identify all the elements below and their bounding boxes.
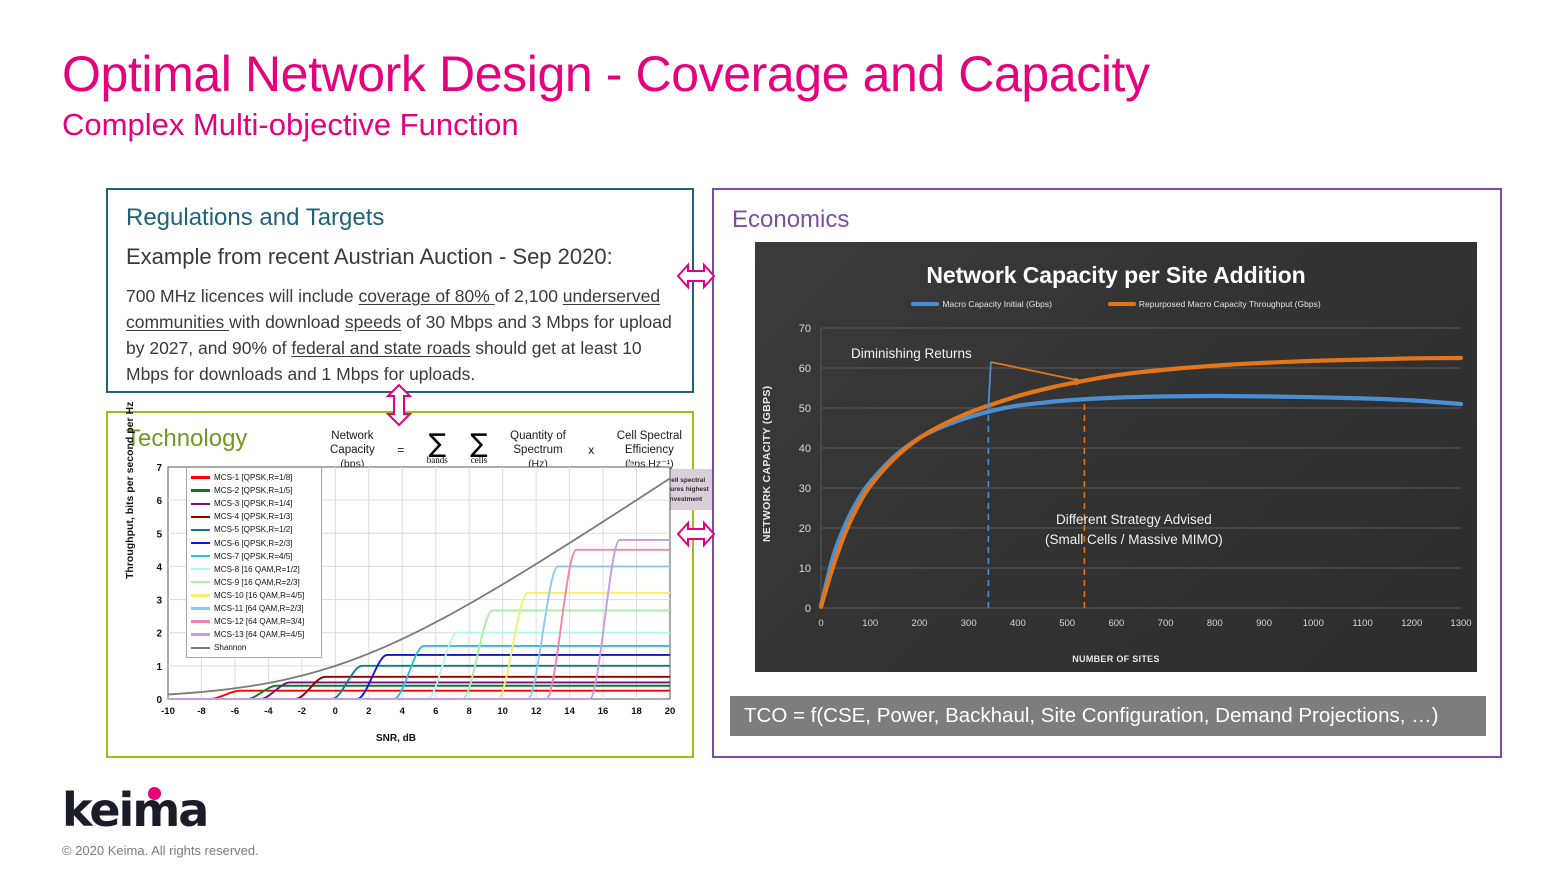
panel-technology: Technology Network Capacity (bps) = ∑ ba… — [106, 411, 694, 758]
svg-text:20: 20 — [799, 523, 811, 535]
svg-text:6: 6 — [156, 496, 162, 507]
svg-text:30: 30 — [799, 483, 811, 495]
panel-regulations-and-targets: Regulations and Targets Example from rec… — [106, 188, 694, 393]
svg-text:-6: -6 — [231, 706, 239, 717]
mcs-legend-swatch — [191, 568, 210, 570]
regulations-body-text: 700 MHz licences will include coverage o… — [126, 284, 676, 388]
mcs-legend-label: MCS-11 [64 QAM,R=2/3] — [214, 604, 304, 613]
copyright-text: © 2020 Keima. All rights reserved. — [62, 843, 259, 858]
svg-text:200: 200 — [912, 618, 928, 629]
svg-text:8: 8 — [467, 706, 472, 717]
svg-text:0: 0 — [156, 695, 162, 706]
annotation-different-strategy: Different Strategy Advised (Small Cells … — [1045, 510, 1223, 551]
mcs-legend-swatch — [191, 594, 210, 596]
svg-text:4: 4 — [156, 562, 162, 573]
mcs-legend-label: MCS-13 [64 QAM,R=4/5] — [214, 630, 304, 639]
network-capacity-chart: Network Capacity per Site Addition Macro… — [755, 242, 1477, 672]
mcs-legend-label: Shannon — [214, 643, 246, 652]
title-block: Optimal Network Design - Coverage and Ca… — [62, 48, 1150, 143]
svg-text:5: 5 — [156, 529, 162, 540]
page-subtitle: Complex Multi-objective Function — [62, 107, 1150, 143]
mcs-legend-item-13: Shannon — [191, 641, 317, 654]
mcs-chart-x-axis-label: SNR, dB — [376, 733, 416, 744]
svg-text:7: 7 — [156, 463, 162, 474]
svg-text:60: 60 — [799, 363, 811, 375]
formula-sigma-cells: ∑ cells — [470, 429, 488, 465]
svg-text:-10: -10 — [161, 706, 175, 717]
svg-text:6: 6 — [433, 706, 438, 717]
mcs-legend-swatch — [191, 476, 210, 478]
mcs-legend-item-2: MCS-3 [QPSK,R=1/4] — [191, 497, 317, 510]
mcs-legend-swatch — [191, 542, 210, 544]
arrow-regulations-to-technology — [385, 383, 413, 427]
mcs-legend-item-5: MCS-6 [QPSK,R=2/3] — [191, 536, 317, 549]
mcs-legend-label: MCS-9 [16 QAM,R=2/3] — [214, 578, 300, 587]
mcs-legend-swatch — [191, 529, 210, 531]
svg-text:-4: -4 — [264, 706, 273, 717]
mcs-legend-swatch — [191, 581, 210, 583]
svg-text:14: 14 — [564, 706, 575, 717]
mcs-legend-item-1: MCS-2 [QPSK,R=1/5] — [191, 484, 317, 497]
regulations-lead-text: Example from recent Austrian Auction - S… — [126, 244, 692, 270]
svg-text:400: 400 — [1010, 618, 1026, 629]
mcs-legend-item-12: MCS-13 [64 QAM,R=4/5] — [191, 628, 317, 641]
mcs-legend-item-7: MCS-8 [16 QAM,R=1/2] — [191, 563, 317, 576]
mcs-legend-item-6: MCS-7 [QPSK,R=4/5] — [191, 550, 317, 563]
mcs-legend-label: MCS-1 [QPSK,R=1/8] — [214, 473, 293, 482]
page-title: Optimal Network Design - Coverage and Ca… — [62, 48, 1150, 101]
mcs-legend-swatch — [191, 633, 210, 635]
svg-text:800: 800 — [1207, 618, 1223, 629]
mcs-legend-swatch — [191, 503, 210, 505]
mcs-legend-swatch — [191, 620, 210, 622]
tco-formula-text: TCO = f(CSE, Power, Backhaul, Site Confi… — [744, 704, 1438, 728]
network-capacity-x-axis-label: NUMBER OF SITES — [755, 654, 1477, 664]
svg-text:700: 700 — [1158, 618, 1174, 629]
formula-multiply-sign: x — [588, 429, 594, 457]
mcs-legend-item-0: MCS-1 [QPSK,R=1/8] — [191, 471, 317, 484]
svg-text:70: 70 — [799, 323, 811, 335]
legend-item-0: Macro Capacity Initial (Gbps) — [911, 299, 1052, 309]
economics-heading: Economics — [732, 206, 1500, 234]
svg-text:1100: 1100 — [1352, 618, 1372, 629]
mcs-chart-legend: MCS-1 [QPSK,R=1/8]MCS-2 [QPSK,R=1/5]MCS-… — [186, 467, 322, 658]
formula-equals-sign: = — [397, 429, 404, 457]
arrow-regulations-to-economics — [676, 262, 716, 290]
mcs-legend-item-3: MCS-4 [QPSK,R=1/3] — [191, 510, 317, 523]
svg-text:900: 900 — [1256, 618, 1272, 629]
svg-text:10: 10 — [497, 706, 508, 717]
mcs-legend-swatch — [191, 607, 210, 609]
svg-text:18: 18 — [631, 706, 642, 717]
mcs-legend-label: MCS-10 [16 QAM,R=4/5] — [214, 591, 304, 600]
mcs-legend-label: MCS-3 [QPSK,R=1/4] — [214, 499, 293, 508]
arrow-technology-to-economics — [676, 520, 716, 548]
svg-text:100: 100 — [862, 618, 878, 629]
annotation-diminishing-returns: Diminishing Returns — [851, 346, 972, 361]
mcs-legend-swatch — [191, 555, 210, 557]
mcs-legend-label: MCS-2 [QPSK,R=1/5] — [214, 486, 293, 495]
svg-text:2: 2 — [156, 629, 162, 640]
legend-swatch — [911, 302, 939, 306]
mcs-legend-item-4: MCS-5 [QPSK,R=1/2] — [191, 523, 317, 536]
mcs-legend-item-9: MCS-10 [16 QAM,R=4/5] — [191, 589, 317, 602]
mcs-legend-label: MCS-4 [QPSK,R=1/3] — [214, 512, 293, 521]
svg-text:16: 16 — [598, 706, 609, 717]
panel-economics: Economics Network Capacity per Site Addi… — [712, 188, 1502, 758]
legend-item-1: Repurposed Macro Capacity Throughput (Gb… — [1108, 299, 1321, 309]
mcs-legend-swatch — [191, 516, 210, 518]
network-capacity-chart-legend: Macro Capacity Initial (Gbps)Repurposed … — [755, 299, 1477, 309]
mcs-legend-swatch — [191, 489, 210, 491]
svg-text:1: 1 — [156, 662, 162, 673]
svg-text:300: 300 — [961, 618, 977, 629]
mcs-legend-item-11: MCS-12 [64 QAM,R=3/4] — [191, 615, 317, 628]
svg-text:500: 500 — [1059, 618, 1075, 629]
svg-text:10: 10 — [799, 563, 811, 575]
svg-text:3: 3 — [156, 596, 162, 607]
mcs-chart-y-axis-label: Throughput, bits per second per Hz — [124, 402, 136, 579]
svg-text:50: 50 — [799, 403, 811, 415]
mcs-legend-label: MCS-8 [16 QAM,R=1/2] — [214, 565, 300, 574]
svg-text:1300: 1300 — [1450, 618, 1471, 629]
svg-text:12: 12 — [531, 706, 542, 717]
legend-label: Repurposed Macro Capacity Throughput (Gb… — [1139, 299, 1321, 309]
network-capacity-y-axis-label: NETWORK CAPACITY (GBPS) — [761, 386, 773, 542]
logo-wordmark: keima — [62, 783, 207, 837]
mcs-legend-label: MCS-7 [QPSK,R=4/5] — [214, 552, 293, 561]
svg-text:0: 0 — [805, 603, 811, 615]
svg-text:40: 40 — [799, 443, 811, 455]
mcs-legend-label: MCS-6 [QPSK,R=2/3] — [214, 539, 293, 548]
svg-text:2: 2 — [366, 706, 371, 717]
mcs-legend-label: MCS-12 [64 QAM,R=3/4] — [214, 617, 304, 626]
svg-text:1200: 1200 — [1401, 618, 1422, 629]
mcs-legend-item-8: MCS-9 [16 QAM,R=2/3] — [191, 576, 317, 589]
tco-formula-bar: TCO = f(CSE, Power, Backhaul, Site Confi… — [730, 696, 1486, 736]
svg-text:1000: 1000 — [1303, 618, 1324, 629]
keima-logo: keima — [62, 783, 207, 837]
logo-dot-icon — [148, 787, 161, 800]
legend-label: Macro Capacity Initial (Gbps) — [942, 299, 1052, 309]
mcs-legend-swatch — [191, 647, 210, 649]
svg-text:0: 0 — [818, 618, 823, 629]
svg-text:0: 0 — [333, 706, 338, 717]
network-capacity-chart-title: Network Capacity per Site Addition — [755, 262, 1477, 289]
mcs-legend-label: MCS-5 [QPSK,R=1/2] — [214, 525, 293, 534]
svg-text:20: 20 — [665, 706, 676, 717]
formula-sigma-bands: ∑ bands — [427, 429, 448, 465]
legend-swatch — [1108, 302, 1136, 306]
mcs-throughput-chart: Throughput, bits per second per Hz 01234… — [126, 461, 676, 751]
mcs-legend-item-10: MCS-11 [64 QAM,R=2/3] — [191, 602, 317, 615]
svg-text:-2: -2 — [298, 706, 306, 717]
svg-text:4: 4 — [400, 706, 406, 717]
regulations-heading: Regulations and Targets — [126, 204, 692, 232]
svg-text:600: 600 — [1108, 618, 1124, 629]
svg-text:-8: -8 — [197, 706, 205, 717]
